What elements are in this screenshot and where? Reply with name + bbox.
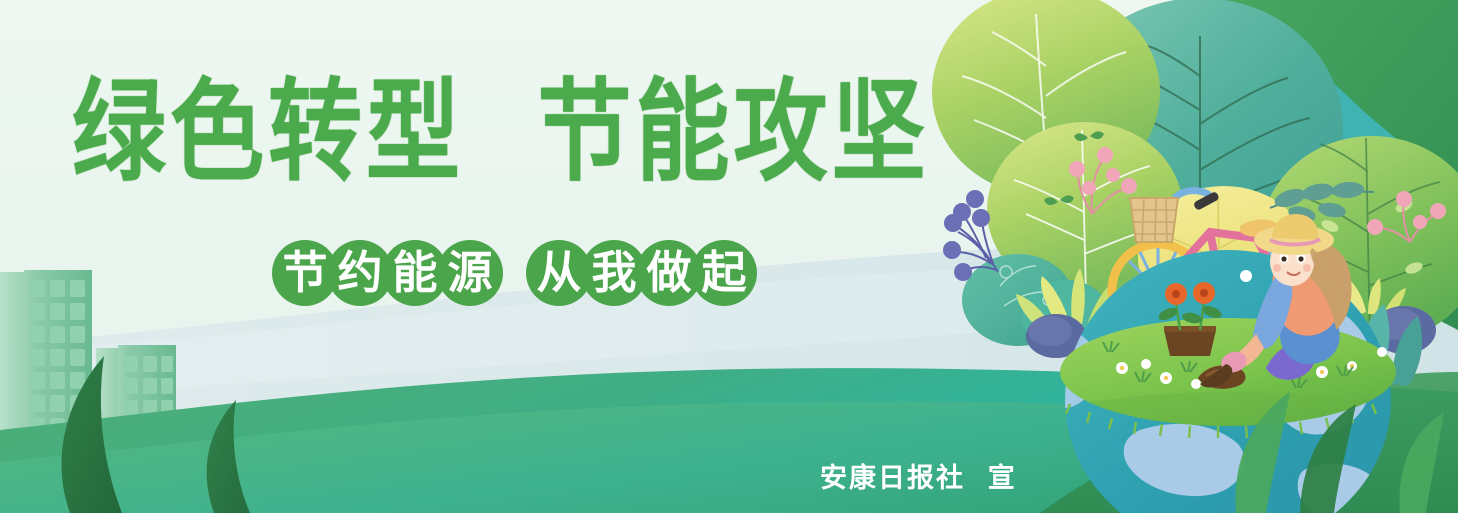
energy-saving-banner: 绿色转型 节能攻坚 节约能源从我做起 安康日报社 宣 — [0, 0, 1458, 513]
publisher-credit: 安康日报社 宣 — [820, 456, 1017, 495]
planter-soil-box — [1164, 330, 1216, 356]
subtitle-slogan: 节约能源从我做起 — [272, 236, 746, 310]
subtitle-char-chip: 源 — [437, 240, 503, 306]
page-title: 绿色转型 节能攻坚 — [72, 78, 929, 189]
subtitle-char-chip: 起 — [691, 240, 757, 306]
bike-basket — [1130, 198, 1178, 242]
